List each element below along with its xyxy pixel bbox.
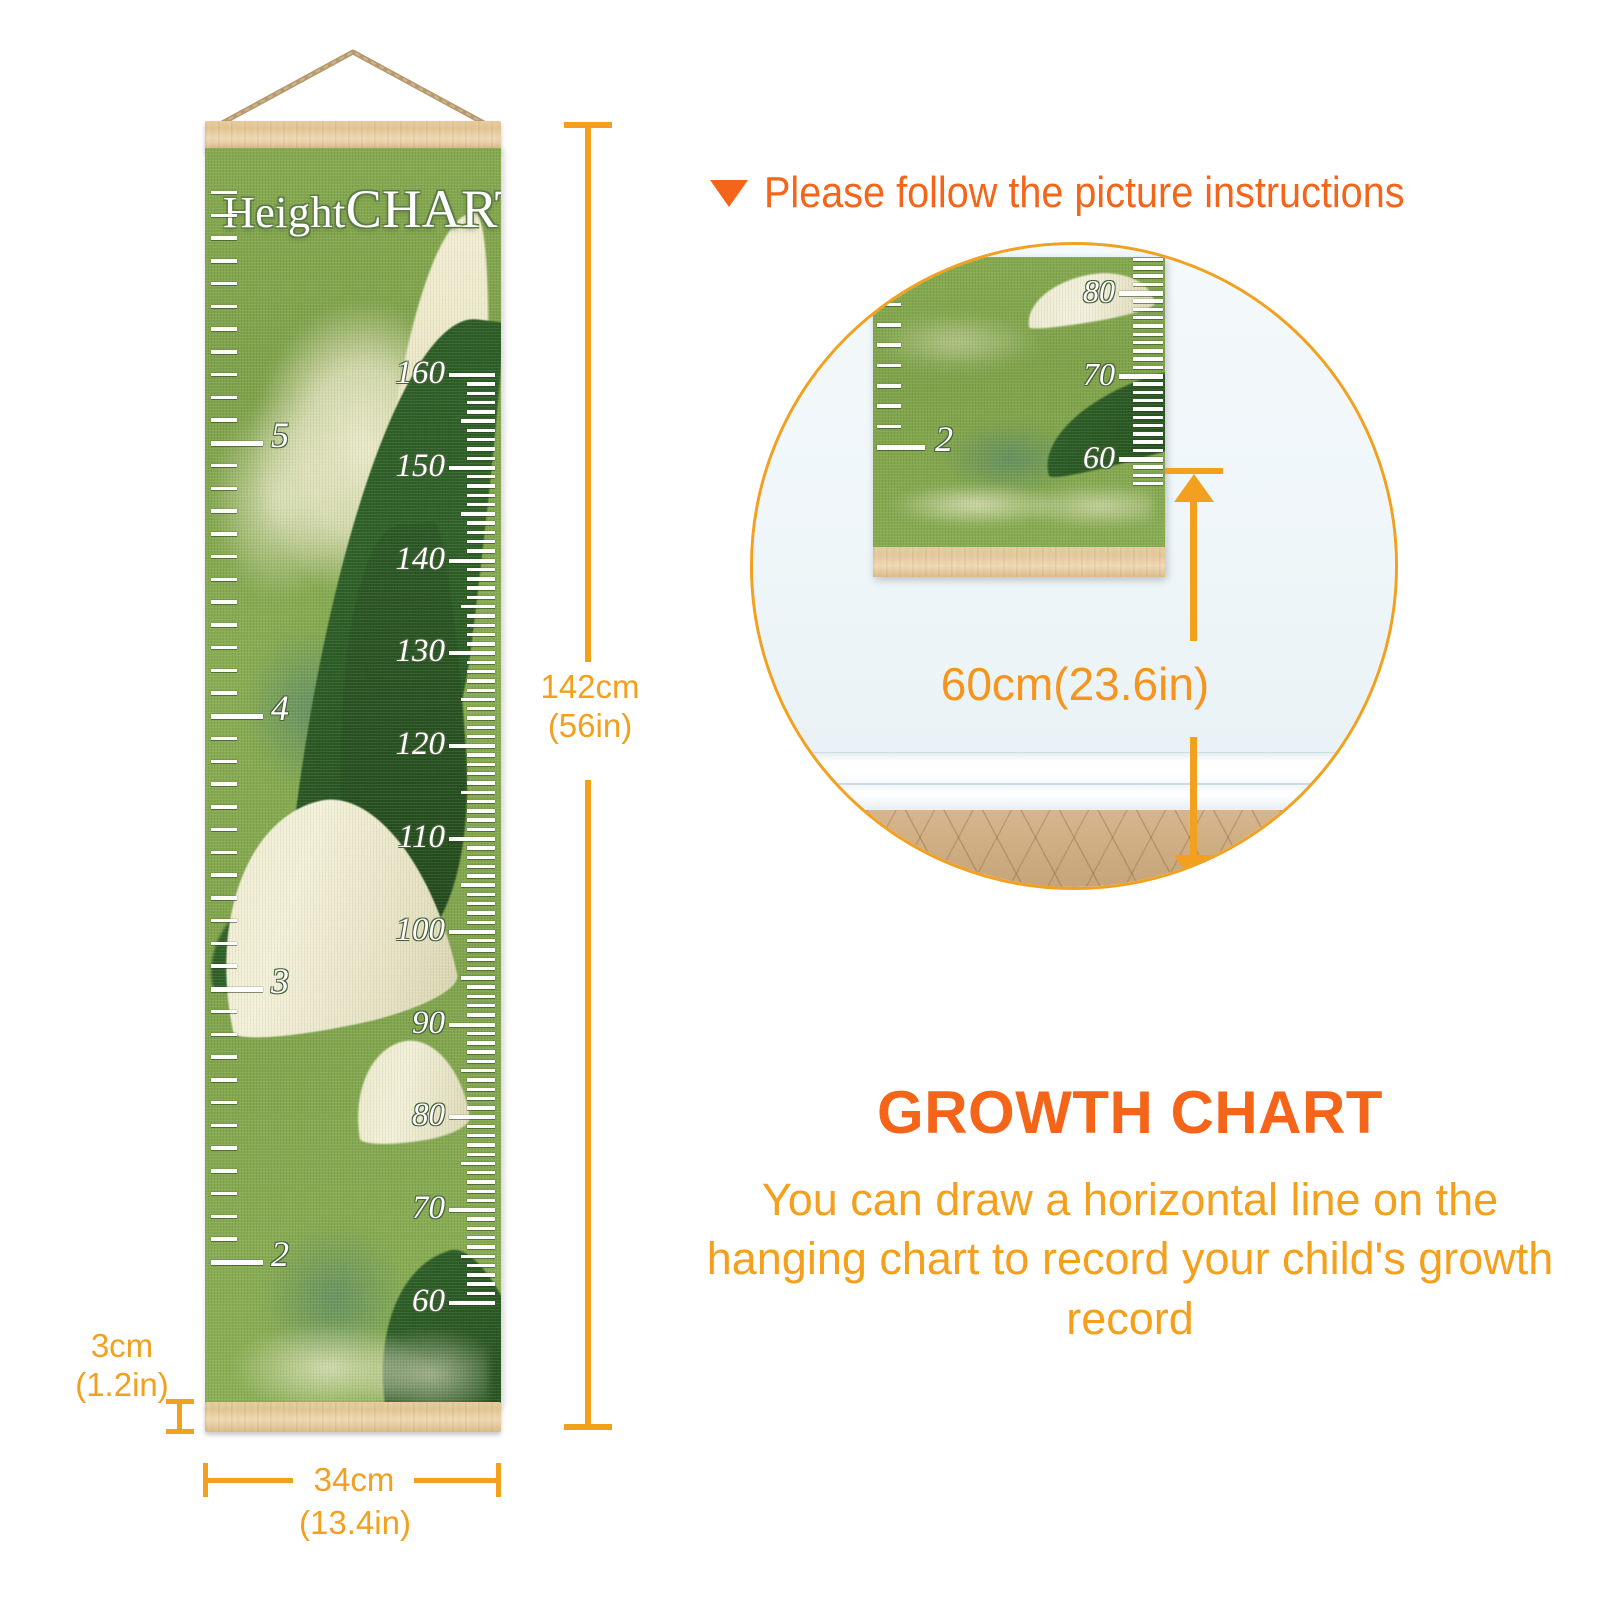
cm-minor-tick [467,1050,495,1053]
inset-cm-minor-tick [1133,316,1163,320]
cm-label: 90 [412,1007,445,1040]
instruction-header: Please follow the picture instructions [710,168,1580,218]
inch-tick [211,555,237,559]
cm-major-tick [449,651,495,655]
cm-minor-tick [461,698,495,701]
ft-major-tick [211,987,263,992]
cm-minor-tick [467,1171,495,1174]
cm-label: 70 [412,1192,445,1225]
inset-inch-tick [877,303,901,307]
inset-cm-label: 80 [1083,275,1115,307]
page-title: HeightCHART [223,178,501,240]
inset-ft-major-tick [877,445,925,450]
inset-cm-minor-tick [1133,258,1163,262]
cm-minor-tick [467,1088,495,1091]
inch-tick [211,464,237,468]
cm-minor-tick [467,1217,495,1220]
cm-minor-tick [467,1013,495,1016]
growth-chart-description: You can draw a horizontal line on the ha… [702,1170,1558,1348]
inset-ft-label: 2 [935,421,953,457]
cm-minor-tick [467,1106,495,1109]
inch-tick [211,964,237,968]
inset-wood-bar [873,547,1165,577]
width-dimension-label-in: (13.4in) [275,1504,435,1543]
inch-tick [211,896,237,900]
width-dimension-label: 34cm [291,1461,417,1500]
cm-minor-tick [467,642,495,645]
width-dimension-in: (13.4in) [275,1504,435,1543]
inset-cm-minor-tick [1133,349,1163,353]
inset-inch-tick [877,404,901,408]
cm-minor-tick [467,1060,495,1063]
inch-tick [211,532,237,536]
height-dimension-line-lower [585,780,591,1430]
inset-cm-label: 70 [1083,358,1115,390]
cm-major-tick [449,930,495,934]
cm-minor-tick [467,401,495,404]
cm-minor-tick [467,809,495,812]
ft-major-tick [211,714,263,719]
cm-minor-tick [461,1069,495,1072]
inset-cm-minor-tick [1133,474,1163,478]
height-dimension-cap-bottom [564,1424,612,1430]
cm-minor-tick [467,679,495,682]
cm-major-tick [449,559,495,563]
inch-tick [211,1215,237,1219]
cm-minor-tick [467,577,495,580]
cm-minor-tick [467,828,495,831]
cm-minor-tick [467,1078,495,1081]
inset-leaf-artwork: 807060 2 [873,257,1165,549]
inch-tick [211,646,237,650]
height-dimension-in: (56in) [530,707,650,746]
cm-minor-tick [467,818,495,821]
cm-minor-tick [467,735,495,738]
cm-minor-tick [467,893,495,896]
cm-label: 110 [398,821,445,854]
thickness-dimension-cap-bottom [166,1429,194,1434]
thickness-dimension-cap-top [166,1399,194,1404]
cm-minor-tick [467,716,495,719]
inch-tick [211,737,237,741]
inch-tick [211,1033,237,1037]
cm-minor-tick [467,1199,495,1202]
growth-chart-canvas: HeightCHART 1601501401301201101009080706… [205,148,501,1406]
thickness-dimension-line [177,1402,182,1432]
room-floor-parquet [753,810,1395,887]
cm-minor-tick [461,791,495,794]
inset-cm-minor-tick [1133,424,1163,428]
inch-tick [211,760,237,764]
instructions-panel: Please follow the picture instructions 8… [660,0,1600,1600]
inch-tick [211,418,237,422]
cm-minor-tick [467,438,495,441]
inset-cm-minor-tick [1133,440,1163,444]
inset-cm-minor-tick [1133,416,1163,420]
inset-cm-minor-tick [1133,274,1163,278]
cm-major-tick [449,1023,495,1027]
inset-cm-minor-tick [1133,391,1163,395]
inset-inch-tick [877,323,901,327]
ft-label: 3 [271,963,289,999]
cm-minor-tick [467,661,495,664]
cm-minor-tick [467,753,495,756]
growth-chart-title: GROWTH CHART [660,1078,1600,1147]
ft-label: 4 [271,690,289,726]
inch-tick [211,236,237,240]
cm-minor-tick [467,549,495,552]
inset-cm-minor-tick [1133,333,1163,337]
cm-minor-tick [467,800,495,803]
cm-minor-tick [467,865,495,868]
width-dimension-cm: 34cm [291,1461,417,1500]
inch-tick [211,691,237,695]
cm-minor-tick [467,1004,495,1007]
cm-label: 120 [396,728,446,761]
cm-major-tick [449,1208,495,1212]
inch-tick [211,1078,237,1082]
inset-cm-minor-tick [1133,308,1163,312]
cm-minor-tick [467,1236,495,1239]
cm-minor-tick [467,1125,495,1128]
cm-minor-tick [467,781,495,784]
cm-minor-tick [467,1143,495,1146]
inch-tick [211,600,237,604]
thickness-dimension-label: 3cm (1.2in) [52,1327,192,1405]
inch-tick [211,1169,237,1173]
cm-minor-tick [467,958,495,961]
cm-minor-tick [467,948,495,951]
cm-minor-tick [467,633,495,636]
inch-tick [211,259,237,263]
inset-cm-major-tick [1119,374,1163,379]
cm-minor-tick [467,1292,495,1295]
inset-cm-minor-tick [1133,407,1163,411]
triangle-down-icon [710,180,748,207]
inch-tick [211,1101,237,1105]
inset-cm-minor-tick [1133,299,1163,303]
cm-label: 130 [396,635,446,668]
inset-cm-minor-tick [1133,449,1163,453]
cm-label: 160 [396,357,446,390]
cm-minor-tick [467,1273,495,1276]
cm-minor-tick [467,670,495,673]
mount-dimension-stem-lower [1190,737,1197,859]
instruction-text: Please follow the picture instructions [764,168,1405,218]
height-dimension-line [585,122,591,662]
cm-label: 140 [396,543,446,576]
inset-cm-label: 60 [1083,441,1115,473]
inch-tick [211,305,237,309]
cm-minor-tick [467,726,495,729]
cm-minor-tick [467,689,495,692]
inset-inch-tick [877,425,901,429]
height-dimension-cap-top [564,122,612,128]
cm-minor-tick [467,1180,495,1183]
cm-minor-tick [467,939,495,942]
inset-cm-minor-tick [1133,482,1163,486]
inch-tick [211,1124,237,1128]
inch-tick [211,1192,237,1196]
inset-cm-major-tick [1119,457,1163,462]
cm-minor-tick [467,540,495,543]
cm-minor-tick [467,457,495,460]
inch-tick [211,350,237,354]
ft-major-tick [211,441,263,446]
room-inset-circle: 807060 2 60cm(23.6in) [750,242,1398,890]
cm-minor-tick [467,911,495,914]
cm-minor-tick [467,494,495,497]
ft-label: 5 [271,417,289,453]
canvas-texture [205,148,501,1406]
inset-cm-major-tick [1119,291,1163,296]
inset-cm-minor-tick [1133,283,1163,287]
inset-cm-minor-tick [1133,341,1163,345]
inch-tick [211,873,237,877]
cm-minor-tick [467,874,495,877]
ft-label: 2 [271,1236,289,1272]
cm-minor-tick [467,447,495,450]
inset-cm-minor-tick [1133,357,1163,361]
inset-cm-minor-tick [1133,366,1163,370]
room-baseboard [753,752,1395,810]
inset-inch-tick [877,364,901,368]
cm-minor-tick [467,484,495,487]
inch-tick [211,373,237,377]
inch-tick [211,623,237,627]
infographic-root: HeightCHART 1601501401301201101009080706… [0,0,1600,1600]
wood-bar-top [205,121,501,151]
cm-minor-tick [467,586,495,589]
cm-minor-tick [461,883,495,886]
cm-major-tick [449,373,495,377]
inch-tick [211,1055,237,1059]
inset-inch-tick [877,343,901,347]
width-dimension-line-left [203,1478,293,1483]
cm-major-tick [449,1115,495,1119]
cm-minor-tick [467,475,495,478]
cm-label: 60 [412,1285,445,1318]
cm-minor-tick [467,1097,495,1100]
inch-tick [211,327,237,331]
inset-cm-minor-tick [1133,324,1163,328]
cm-minor-tick [467,967,495,970]
cm-minor-tick [461,605,495,608]
arrow-down-icon [1174,855,1214,883]
inch-tick [211,1146,237,1150]
inch-tick [211,1010,237,1014]
cm-major-tick [449,744,495,748]
height-dimension-label: 142cm (56in) [530,668,650,746]
cm-minor-tick [467,392,495,395]
cm-minor-tick [467,429,495,432]
inch-tick [211,919,237,923]
ft-major-tick [211,1260,263,1265]
inch-tick [211,487,237,491]
inset-cm-minor-tick [1133,465,1163,469]
inch-tick [211,828,237,832]
inch-tick [211,851,237,855]
cm-minor-tick [461,419,495,422]
inset-chart-corner: 807060 2 [873,257,1165,577]
cm-minor-tick [467,921,495,924]
cm-label: 150 [396,450,446,483]
cm-minor-tick [467,596,495,599]
cm-minor-tick [467,1227,495,1230]
cm-major-tick [449,837,495,841]
cm-minor-tick [461,1162,495,1165]
cm-minor-tick [467,1264,495,1267]
cm-minor-tick [467,382,495,385]
cm-minor-tick [467,707,495,710]
chart-title-part2: CHART [346,179,501,239]
cm-major-tick [449,1301,495,1305]
cm-minor-tick [467,410,495,413]
cm-label: 100 [396,914,446,947]
cm-minor-tick [467,772,495,775]
cm-major-tick [449,466,495,470]
inch-tick [211,282,237,286]
inch-tick [211,396,237,400]
thickness-dimension-cm: 3cm [52,1327,192,1366]
cm-minor-tick [467,1134,495,1137]
chart-title-part1: Height [223,188,346,237]
cm-minor-tick [467,1153,495,1156]
inset-cm-minor-tick [1133,266,1163,270]
inch-tick [211,214,237,218]
cm-minor-tick [467,902,495,905]
cm-minor-tick [467,995,495,998]
height-dimension-cm: 142cm [530,668,650,707]
inset-cm-minor-tick [1133,432,1163,436]
product-panel: HeightCHART 1601501401301201101009080706… [0,0,660,1600]
cm-minor-tick [467,1041,495,1044]
cm-minor-tick [467,985,495,988]
cm-minor-tick [461,1255,495,1258]
cm-minor-tick [467,1245,495,1248]
cm-minor-tick [467,614,495,617]
wood-bar-bottom [205,1402,501,1432]
cm-minor-tick [467,531,495,534]
cm-minor-tick [467,1282,495,1285]
cm-minor-tick [467,624,495,627]
cm-minor-tick [467,1190,495,1193]
cm-minor-tick [461,976,495,979]
cm-label: 80 [412,1099,445,1132]
width-dimension-line-right [414,1478,498,1483]
inch-tick [211,669,237,673]
width-dimension-tick-right [496,1463,501,1497]
inch-tick [211,578,237,582]
mount-height-label: 60cm(23.6in) [785,657,1365,711]
mount-dimension-cap-bottom [1165,881,1223,887]
inch-tick [211,782,237,786]
cm-minor-tick [467,521,495,524]
inset-cm-minor-tick [1133,399,1163,403]
inset-inch-tick [877,384,901,388]
cm-minor-tick [467,503,495,506]
inch-tick [211,942,237,946]
cm-minor-tick [467,1032,495,1035]
inset-cm-minor-tick [1133,382,1163,386]
cm-minor-tick [461,512,495,515]
cm-minor-tick [467,568,495,571]
mount-dimension-stem-upper [1190,497,1197,641]
inch-tick [211,509,237,513]
inch-tick [211,1237,237,1241]
inch-tick [211,191,237,195]
inch-tick [211,805,237,809]
cm-minor-tick [467,763,495,766]
cm-minor-tick [467,856,495,859]
cm-minor-tick [467,846,495,849]
